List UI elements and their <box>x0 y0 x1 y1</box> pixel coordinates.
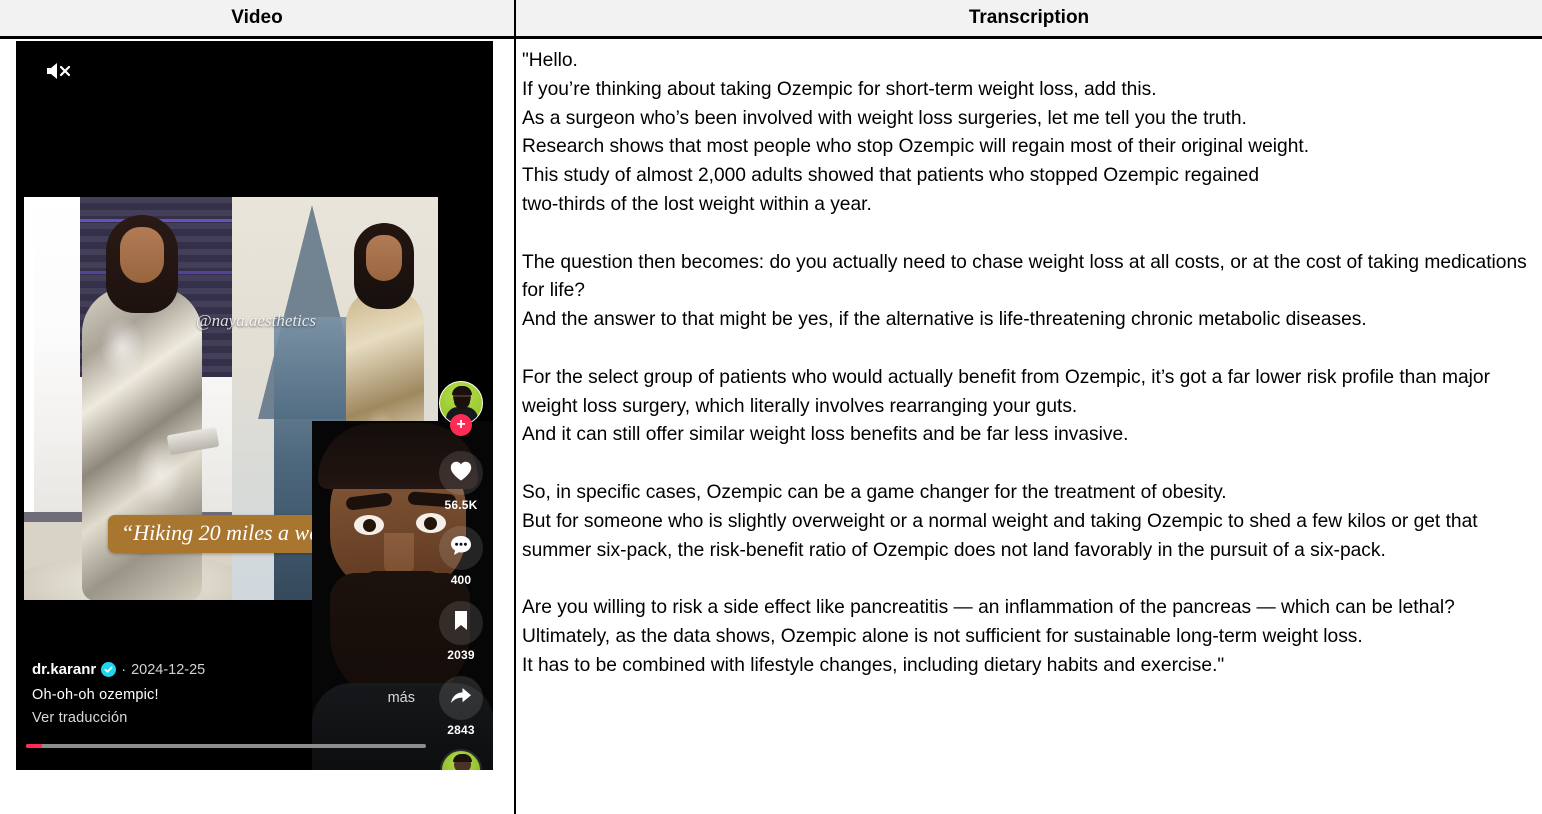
bookmark-button[interactable] <box>439 601 483 645</box>
heart-icon <box>449 460 473 487</box>
video-player[interactable]: @naya.aesthetics “Hiking 20 miles a week… <box>16 41 493 770</box>
share-arrow-icon <box>449 685 473 712</box>
username[interactable]: dr.karanr <box>32 661 96 678</box>
action-rail: + 56.5K <box>433 381 489 770</box>
creator-avatar[interactable]: + <box>439 381 483 425</box>
bookmark-icon <box>451 609 471 637</box>
verified-check-icon <box>101 662 116 677</box>
music-disc-avatar[interactable] <box>440 749 482 770</box>
meta-separator: · <box>121 662 126 678</box>
progress-bar-fill <box>26 744 42 748</box>
video-cell: @naya.aesthetics “Hiking 20 miles a week… <box>0 39 516 814</box>
see-translation-link[interactable]: Ver traducción <box>32 710 432 726</box>
share-count: 2843 <box>447 723 475 737</box>
share-button[interactable] <box>439 676 483 720</box>
transcription-text: "Hello. If you’re thinking about taking … <box>522 47 1534 681</box>
bookmark-count: 2039 <box>447 648 475 662</box>
speaker-muted-icon[interactable] <box>44 59 74 83</box>
video-meta: dr.karanr · 2024-12-25 Oh-oh-oh ozempic!… <box>32 661 432 726</box>
video-transcription-table: Video Transcription <box>0 0 1542 814</box>
post-date: 2024-12-25 <box>131 662 205 678</box>
meta-author-line: dr.karanr · 2024-12-25 <box>32 661 432 678</box>
table-header-row: Video Transcription <box>0 0 1542 39</box>
column-header-video: Video <box>0 0 516 36</box>
like-button[interactable] <box>439 451 483 495</box>
table-body-row: @naya.aesthetics “Hiking 20 miles a week… <box>0 39 1542 814</box>
column-header-transcription: Transcription <box>516 0 1542 36</box>
progress-bar[interactable] <box>26 744 426 748</box>
comment-icon <box>449 534 473 562</box>
video-caption: Oh-oh-oh ozempic! <box>32 687 432 703</box>
comment-button[interactable] <box>439 526 483 570</box>
more-link[interactable]: más <box>388 690 415 706</box>
like-count: 56.5K <box>444 498 477 512</box>
comment-count: 400 <box>451 573 472 587</box>
follow-button[interactable]: + <box>450 414 472 436</box>
transcription-cell: "Hello. If you’re thinking about taking … <box>516 39 1542 814</box>
